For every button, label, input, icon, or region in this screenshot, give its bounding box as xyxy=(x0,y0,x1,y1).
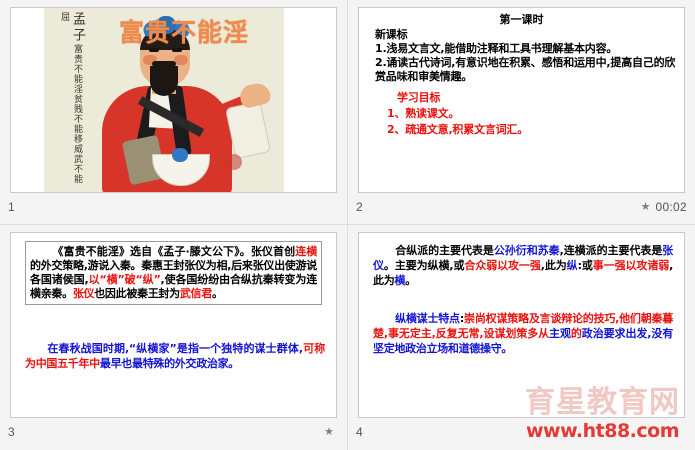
figure-hand xyxy=(238,81,272,110)
slide-3-boxed-paragraph: 《富贵不能淫》选自《孟子·滕文公下》。张仪首创连横的外交策略,游说入秦。秦惠王封… xyxy=(25,241,322,305)
text-run-2: 公孙衍和苏秦 xyxy=(494,244,560,257)
slide-3-lower-paragraph: 在春秋战国时期,“纵横家”是指一个独特的谋士群体,可称为中国五千年中最早也最特殊… xyxy=(25,341,325,371)
goal-item-2: 2、疏通文意,积累文言词汇。 xyxy=(387,122,678,138)
slide-2-title: 第一课时 xyxy=(365,12,678,27)
slide-number-3: 3 xyxy=(8,425,15,439)
slide-2-meta: 2 ★ 00:02 xyxy=(356,196,687,218)
text-run-1: 在春秋战国时期,“纵横家”是指一个独特的谋士群体, xyxy=(47,342,303,355)
standard-heading: 新课标 xyxy=(375,28,678,42)
text-run-6: 合众弱以攻一强 xyxy=(464,259,540,272)
standard-item-2: 2.诵读古代诗词,有意识地在积累、感悟和运用中,提高自己的欣赏品味和审美情趣。 xyxy=(375,56,678,84)
slide-canvas-4[interactable]: 合纵派的主要代表是公孙衍和苏秦,连横派的主要代表是张仪。主要为纵横,或合众弱以攻… xyxy=(358,232,685,418)
goal-item-1: 1、熟读课文。 xyxy=(387,106,678,122)
text-run-5: 。主要为纵横,或 xyxy=(384,259,464,272)
text-run-1: 《富贵不能淫》选自《孟子·滕文公下》。张仪首创 xyxy=(52,245,295,258)
seal-stamp-icon xyxy=(226,154,242,170)
standard-item-1: 1.浅易文言文,能借助注释和工具书理解基本内容。 xyxy=(375,42,678,56)
text-run-6: 张仪 xyxy=(73,287,94,300)
slide-thumbnail-1[interactable]: 孟子富贵不能淫贫贱不能移威武不能屈 富贵不能淫 1 xyxy=(0,0,347,225)
text-run-8: 武信君 xyxy=(180,287,212,300)
calligraphy-heading: 孟子 xyxy=(70,12,85,44)
text-run-2: 连横 xyxy=(295,245,317,258)
slide-2-status: ★ 00:02 xyxy=(641,200,687,214)
text-run-9: :或 xyxy=(578,259,593,272)
figure-cheek-right xyxy=(174,55,188,65)
text-run-8: 纵 xyxy=(567,259,578,272)
slide-number-1: 1 xyxy=(8,200,15,214)
slide-2-content: 第一课时 新课标 1.浅易文言文,能借助注释和工具书理解基本内容。 2.诵读古代… xyxy=(359,8,684,192)
text-run-9: 。 xyxy=(212,287,223,300)
slide-sorter-grid: 孟子富贵不能淫贫贱不能移威武不能屈 富贵不能淫 1 第一课时 新课标 1.浅易文… xyxy=(0,0,695,450)
slide-canvas-3[interactable]: 《富贵不能淫》选自《孟子·滕文公下》。张仪首创连横的外交策略,游说入秦。秦惠王封… xyxy=(10,232,337,418)
slide-thumbnail-2[interactable]: 第一课时 新课标 1.浅易文言文,能借助注释和工具书理解基本内容。 2.诵读古代… xyxy=(348,0,695,225)
text-run-12: 横 xyxy=(394,274,405,287)
slide-canvas-1[interactable]: 孟子富贵不能淫贫贱不能移威武不能屈 富贵不能淫 xyxy=(10,7,337,193)
slide-number-4: 4 xyxy=(356,425,363,439)
slide-3-status: ★ xyxy=(324,427,339,438)
slide-1-title: 富贵不能淫 xyxy=(94,13,274,49)
slide-2-goal-block: 学习目标 1、熟读课文。 2、疏通文意,积累文言词汇。 xyxy=(365,90,678,138)
text-run-4: 主观 xyxy=(549,327,571,340)
slide-timing-2: 00:02 xyxy=(655,200,687,214)
slide-thumbnail-3[interactable]: 《富贵不能淫》选自《孟子·滕文公下》。张仪首创连横的外交策略,游说入秦。秦惠王封… xyxy=(0,225,347,450)
text-run-4: 以“横”破“纵” xyxy=(88,273,160,286)
slide-4-paragraph-two: 纵横谋士特点:崇尚权谋策略及言谈辩论的技巧,他们朝秦暮楚,事无定主,反复无常,设… xyxy=(373,311,673,356)
goal-heading: 学习目标 xyxy=(387,90,678,106)
figure-beard xyxy=(150,66,178,96)
text-run-10: 事一强以攻诸弱 xyxy=(593,259,669,272)
figure-ribbon xyxy=(172,148,188,162)
mencius-illustration: 孟子富贵不能淫贫贱不能移威武不能屈 富贵不能淫 xyxy=(44,8,284,193)
text-run-7: 也因此被秦王封为 xyxy=(94,287,180,300)
slide-number-2: 2 xyxy=(356,200,363,214)
animation-star-icon[interactable]: ★ xyxy=(324,427,334,438)
vertical-calligraphy: 孟子富贵不能淫贫贱不能移威武不能屈 xyxy=(58,12,84,192)
animation-star-icon[interactable]: ★ xyxy=(641,202,651,213)
slide-4-paragraph-one: 合纵派的主要代表是公孙衍和苏秦,连横派的主要代表是张仪。主要为纵横,或合众弱以攻… xyxy=(373,243,673,288)
slide-thumbnail-4[interactable]: 合纵派的主要代表是公孙衍和苏秦,连横派的主要代表是张仪。主要为纵横,或合众弱以攻… xyxy=(348,225,695,450)
slide-4-meta: 4 xyxy=(356,421,687,443)
slide-3-meta: 3 ★ xyxy=(8,421,339,443)
text-run-3: ,连横派的主要代表是 xyxy=(560,244,663,257)
text-run-1: 纵横谋士特点 xyxy=(395,312,460,325)
slide-canvas-2[interactable]: 第一课时 新课标 1.浅易文言文,能借助注释和工具书理解基本内容。 2.诵读古代… xyxy=(358,7,685,193)
text-run-1: 合纵派的主要代表是 xyxy=(395,244,494,257)
slide-1-meta: 1 xyxy=(8,196,339,218)
text-run-13: 。 xyxy=(405,274,416,287)
text-run-5: 的 xyxy=(571,327,582,340)
text-run-7: ,此为 xyxy=(541,259,567,272)
slide-2-standard-block: 新课标 1.浅易文言文,能借助注释和工具书理解基本内容。 2.诵读古代诗词,有意… xyxy=(365,28,678,84)
text-run-3: 最早也最特殊的外交政治家。 xyxy=(100,357,239,370)
